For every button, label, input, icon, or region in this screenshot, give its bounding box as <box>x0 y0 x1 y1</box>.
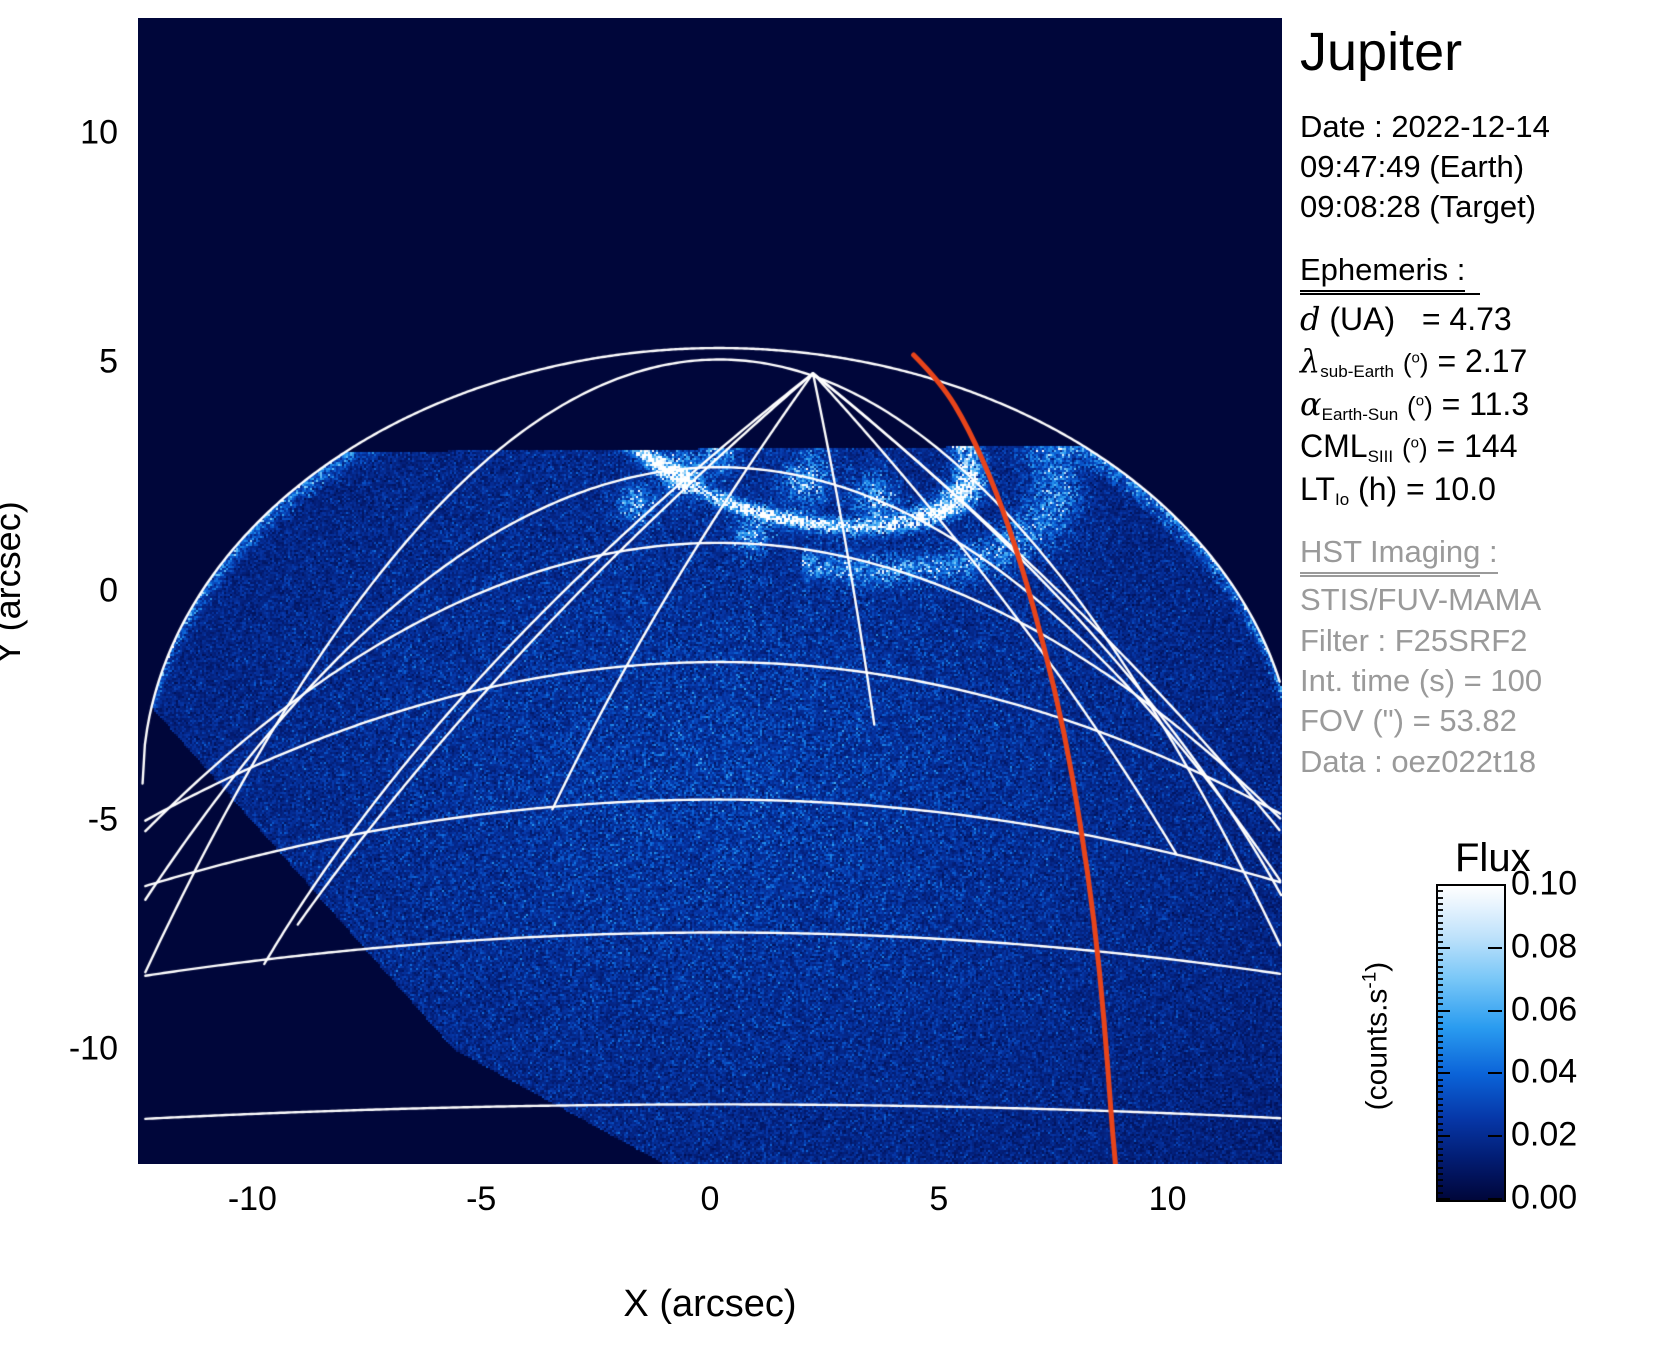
colorbar-minor-tick <box>1436 1016 1443 1018</box>
colorbar-tick-label: 0.02 <box>1511 1116 1577 1155</box>
colorbar-minor-tick <box>1436 984 1443 986</box>
colorbar-minor-tick <box>1436 978 1443 980</box>
colorbar-minor-tick <box>1436 959 1443 961</box>
colorbar-minor-tick <box>1436 1116 1443 1118</box>
colorbar-minor-tick <box>1436 1003 1443 1005</box>
ephemeris-row-lambda: λsub-Earth (o) = 2.17 <box>1300 340 1677 383</box>
y-tick-label: 5 <box>0 342 118 381</box>
ephemeris-block: Ephemeris : d (UA) = 4.73 λsub-Earth (o)… <box>1300 252 1677 511</box>
colorbar-minor-tick <box>1436 884 1443 886</box>
ephemeris-row-cml: CMLSIII (o) = 144 <box>1300 425 1677 468</box>
colorbar-tick <box>1488 947 1502 949</box>
colorbar-minor-tick <box>1436 991 1443 993</box>
ephemeris-heading: Ephemeris : <box>1300 252 1465 292</box>
observation-time-earth: 09:47:49 (Earth) <box>1300 147 1677 187</box>
hst-rule <box>1300 575 1480 577</box>
colorbar-minor-tick <box>1436 997 1443 999</box>
colorbar-minor-tick <box>1436 1035 1443 1037</box>
colorbar-area: Flux (counts.s-1) 0.100.080.060.040.020.… <box>1383 836 1677 1256</box>
colorbar-tick <box>1488 884 1502 886</box>
colorbar-minor-tick <box>1436 1179 1443 1181</box>
colorbar-tick <box>1488 1010 1502 1012</box>
colorbar-minor-tick <box>1436 922 1443 924</box>
colorbar-minor-tick <box>1436 1129 1443 1131</box>
colorbar-minor-tick <box>1436 897 1443 899</box>
x-tick-label: -10 <box>228 1180 277 1219</box>
colorbar-tick <box>1488 1072 1502 1074</box>
hst-filter: Filter : F25SRF2 <box>1300 621 1677 661</box>
ephemeris-value: = 10.0 <box>1406 471 1496 507</box>
colorbar-minor-tick <box>1436 1167 1443 1169</box>
colorbar-minor-tick <box>1436 928 1443 930</box>
ephemeris-unit: (o) <box>1407 391 1433 421</box>
colorbar-minor-tick <box>1436 1123 1443 1125</box>
colorbar-minor-tick <box>1436 1079 1443 1081</box>
ephemeris-subscript: Io <box>1335 490 1349 509</box>
ephemeris-subscript: SIII <box>1368 447 1394 466</box>
ephemeris-unit: (h) <box>1358 471 1397 507</box>
x-tick-label: 5 <box>929 1180 948 1219</box>
hst-fov: FOV (") = 53.82 <box>1300 701 1677 741</box>
colorbar-minor-tick <box>1436 1066 1443 1068</box>
colorbar-minor-tick <box>1436 903 1443 905</box>
colorbar-tick <box>1488 1135 1502 1137</box>
y-tick-label: 10 <box>0 113 118 152</box>
colorbar-minor-tick <box>1436 890 1443 892</box>
ephemeris-subscript: Earth-Sun <box>1322 405 1399 424</box>
colorbar-minor-tick <box>1436 1110 1443 1112</box>
colorbar-minor-tick <box>1436 947 1443 949</box>
colorbar-minor-tick <box>1436 1198 1443 1200</box>
ephemeris-value: = 11.3 <box>1442 386 1529 422</box>
ephemeris-rule <box>1300 293 1480 295</box>
jupiter-fuv-image <box>138 18 1282 1164</box>
colorbar-minor-tick <box>1436 953 1443 955</box>
colorbar-minor-tick <box>1436 1028 1443 1030</box>
x-tick-label: -5 <box>466 1180 496 1219</box>
y-axis-label: Y (arcsec) <box>0 501 29 664</box>
ephemeris-row-alpha: αEarth-Sun (o) = 11.3 <box>1300 383 1677 426</box>
ephemeris-symbol: α <box>1300 385 1322 423</box>
ephemeris-value: = 144 <box>1437 428 1518 464</box>
colorbar-minor-tick <box>1436 966 1443 968</box>
colorbar-minor-tick <box>1436 1160 1443 1162</box>
ephemeris-unit: (o) <box>1403 348 1429 378</box>
ephemeris-symbol: LT <box>1300 471 1335 507</box>
colorbar-minor-tick <box>1436 1047 1443 1049</box>
colorbar-tick-label: 0.10 <box>1511 865 1577 904</box>
ephemeris-value: = 4.73 <box>1422 301 1512 337</box>
colorbar-minor-tick <box>1436 1154 1443 1156</box>
colorbar-minor-tick <box>1436 1085 1443 1087</box>
colorbar-minor-tick <box>1436 1098 1443 1100</box>
colorbar-minor-tick <box>1436 1054 1443 1056</box>
info-sidebar: Jupiter Date : 2022-12-14 09:47:49 (Eart… <box>1300 14 1677 782</box>
colorbar-minor-tick <box>1436 1141 1443 1143</box>
colorbar-minor-tick <box>1436 1148 1443 1150</box>
colorbar-minor-tick <box>1436 1192 1443 1194</box>
ephemeris-row-d: d (UA) = 4.73 <box>1300 298 1677 341</box>
ephemeris-unit: (o) <box>1402 433 1428 463</box>
ephemeris-symbol: CML <box>1300 428 1368 464</box>
colorbar-minor-tick <box>1436 1185 1443 1187</box>
colorbar-minor-tick <box>1436 1173 1443 1175</box>
ephemeris-value: = 2.17 <box>1437 343 1527 379</box>
ephemeris-symbol: λ <box>1300 342 1320 380</box>
ephemeris-symbol: d <box>1300 300 1320 338</box>
y-tick-label: -10 <box>0 1030 118 1069</box>
colorbar-minor-tick <box>1436 1091 1443 1093</box>
colorbar-minor-tick <box>1436 941 1443 943</box>
colorbar-minor-tick <box>1436 1072 1443 1074</box>
hst-heading: HST Imaging : <box>1300 534 1498 574</box>
colorbar-minor-tick <box>1436 1060 1443 1062</box>
colorbar-tick <box>1488 1198 1502 1200</box>
colorbar-tick-label: 0.08 <box>1511 927 1577 966</box>
colorbar-gradient <box>1436 884 1506 1202</box>
x-tick-label: 0 <box>701 1180 720 1219</box>
hst-imaging-block: HST Imaging : STIS/FUV-MAMA Filter : F25… <box>1300 534 1677 781</box>
y-tick-label: -5 <box>0 801 118 840</box>
colorbar-minor-tick <box>1436 915 1443 917</box>
colorbar-tick-label: 0.00 <box>1511 1179 1577 1218</box>
ephemeris-subscript: sub-Earth <box>1320 362 1394 381</box>
observation-time-target: 09:08:28 (Target) <box>1300 187 1677 227</box>
colorbar-tick-label: 0.06 <box>1511 990 1577 1029</box>
target-title: Jupiter <box>1300 24 1677 81</box>
colorbar-minor-tick <box>1436 1041 1443 1043</box>
ephemeris-unit: (UA) <box>1329 301 1395 337</box>
hst-instrument: STIS/FUV-MAMA <box>1300 580 1677 620</box>
ephemeris-row-lt: LTIo (h) = 10.0 <box>1300 468 1677 511</box>
colorbar-minor-tick <box>1436 909 1443 911</box>
colorbar-tick-label: 0.04 <box>1511 1053 1577 1092</box>
image-plot-panel <box>138 18 1282 1164</box>
colorbar-unit-label: (counts.s-1) <box>1360 962 1395 1111</box>
colorbar-minor-tick <box>1436 934 1443 936</box>
hst-data-id: Data : oez022t18 <box>1300 742 1677 782</box>
colorbar-minor-tick <box>1436 1022 1443 1024</box>
observation-date: Date : 2022-12-14 <box>1300 107 1677 147</box>
colorbar-minor-tick <box>1436 1104 1443 1106</box>
x-axis-label: X (arcsec) <box>623 1283 796 1326</box>
colorbar-minor-tick <box>1436 1135 1443 1137</box>
x-tick-label: 10 <box>1149 1180 1187 1219</box>
colorbar-minor-tick <box>1436 972 1443 974</box>
colorbar-minor-tick <box>1436 1010 1443 1012</box>
hst-integration-time: Int. time (s) = 100 <box>1300 661 1677 701</box>
